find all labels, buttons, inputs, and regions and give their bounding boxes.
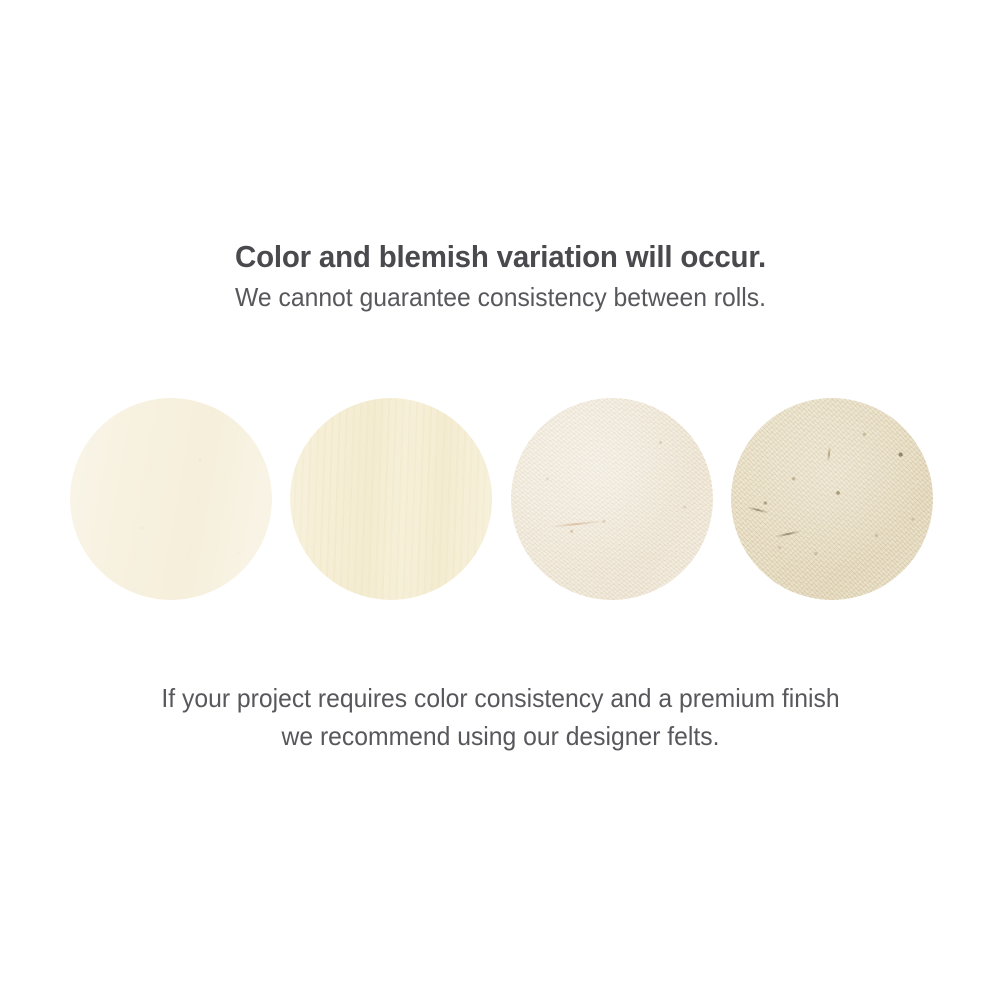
footer-line-2: we recommend using our designer felts. (25, 717, 976, 755)
footer-block: If your project requires color consisten… (0, 679, 1001, 755)
color-swatch-3 (511, 398, 713, 600)
page-subtitle: We cannot guarantee consistency between … (25, 281, 976, 313)
swatch-2-sheen (290, 398, 492, 600)
color-swatch-2 (290, 398, 492, 600)
swatch-1-sheen (70, 398, 272, 600)
heading-block: Color and blemish variation will occur. … (0, 238, 1001, 313)
color-swatch-row (70, 398, 933, 601)
color-swatch-4 (731, 398, 933, 600)
footer-line-1: If your project requires color consisten… (25, 679, 976, 717)
infographic-page: Color and blemish variation will occur. … (0, 0, 1001, 1001)
page-title: Color and blemish variation will occur. (25, 238, 976, 276)
color-swatch-1 (70, 398, 272, 600)
swatch-4-blemishes (731, 398, 933, 600)
swatch-3-blemishes (511, 398, 713, 600)
